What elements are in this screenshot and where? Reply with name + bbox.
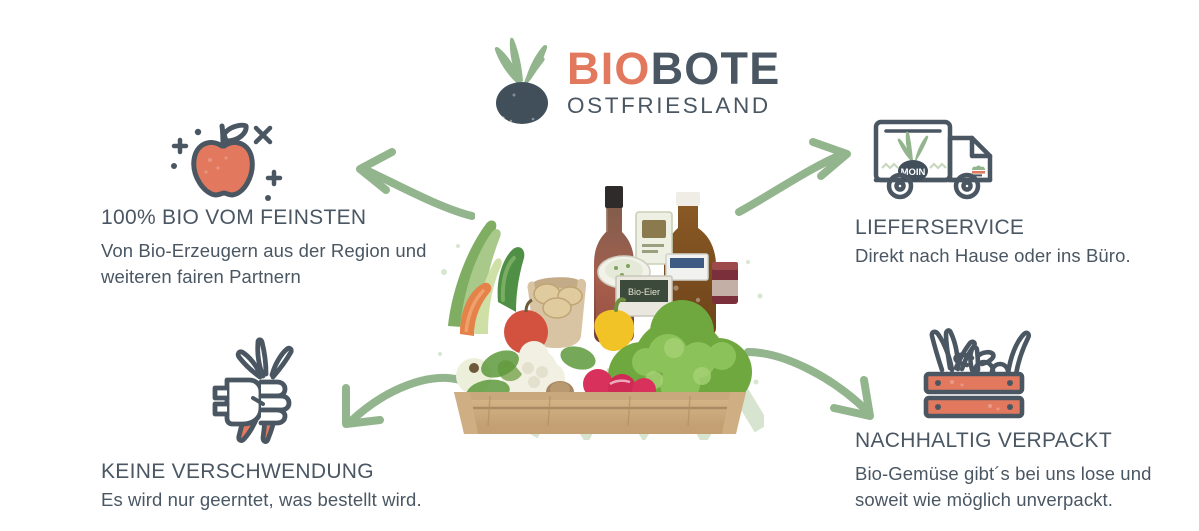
feature-description-verschwendung: Es wird nur geerntet, was bestellt wird. <box>101 487 481 513</box>
produce-crate-image: Bio-Eier <box>430 176 770 438</box>
brand-wordmark: BIOBOTE OSTFRIESLAND <box>567 33 780 119</box>
feature-description-lieferservice: Direkt nach Hause oder ins Büro. <box>855 243 1185 269</box>
feature-title-bio: 100% BIO VOM FEINSTEN <box>101 206 366 230</box>
vegetable-crate-icon <box>912 318 1036 422</box>
feature-title-verschwendung: KEINE VERSCHWENDUNG <box>101 460 374 484</box>
feature-title-lieferservice: LIEFERSERVICE <box>855 216 1024 240</box>
feature-title-verpackt: NACHHALTIG VERPACKT <box>855 429 1112 453</box>
brand-subtitle: OSTFRIESLAND <box>567 94 780 119</box>
beet-icon <box>483 26 561 126</box>
svg-text:Bio-Eier: Bio-Eier <box>628 287 660 297</box>
feature-description-bio: Von Bio-Erzeugern aus der Region und wei… <box>101 238 431 289</box>
biobote-feature-infographic: BIOBOTE OSTFRIESLAND <box>0 0 1199 531</box>
brand-name-bio: BIO <box>567 43 651 94</box>
brand-logo[interactable]: BIOBOTE OSTFRIESLAND <box>483 22 723 130</box>
apple-icon <box>160 112 284 204</box>
hand-holding-carrots-icon <box>203 332 315 446</box>
delivery-truck-icon: MOIN <box>868 108 1004 202</box>
feature-description-verpackt: Bio-Gemüse gibt´s bei uns lose und sowei… <box>855 461 1175 512</box>
brand-name-bote: BOTE <box>651 43 781 94</box>
